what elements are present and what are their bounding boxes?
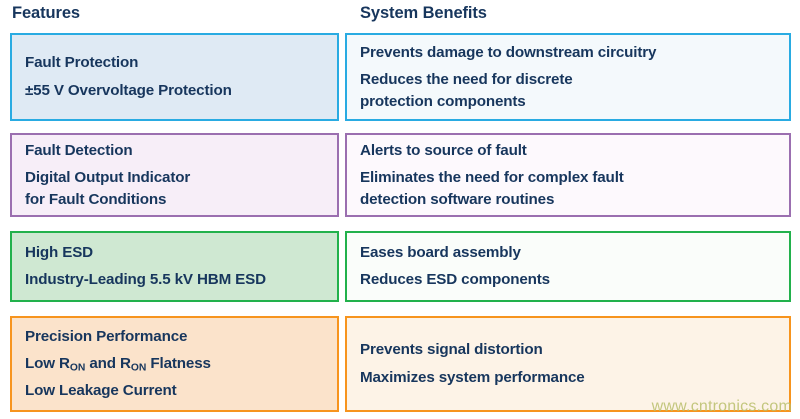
table-header-row: Features System Benefits [0, 0, 800, 32]
benefit-line: Prevents damage to downstream circuitry [360, 42, 777, 64]
feature-line: Low Leakage Current [25, 380, 325, 402]
feature-line-ron: Low RON and RON Flatness [25, 353, 325, 376]
feature-line: High ESD [25, 242, 325, 264]
column-header-system-benefits: System Benefits [360, 4, 487, 23]
column-header-features: Features [12, 4, 80, 23]
benefit-cell-precision-performance: Prevents signal distortion Maximizes sys… [345, 316, 791, 412]
feature-line: Fault Protection [25, 52, 325, 74]
benefit-cell-fault-detection: Alerts to source of fault Eliminates the… [345, 133, 791, 217]
table-row-fault-detection: Fault Detection Digital Output Indicator… [0, 133, 800, 217]
feature-benefit-table: Features System Benefits Fault Protectio… [0, 0, 800, 419]
benefit-line: Reduces the need for discrete protection… [360, 69, 777, 112]
table-row-fault-protection: Fault Protection ±55 V Overvoltage Prote… [0, 33, 800, 121]
benefit-line: Prevents signal distortion [360, 339, 777, 361]
feature-line: Precision Performance [25, 326, 325, 348]
feature-cell-fault-protection: Fault Protection ±55 V Overvoltage Prote… [10, 33, 339, 121]
benefit-line: Eases board assembly [360, 242, 777, 264]
table-row-precision-performance: Precision Performance Low RON and RON Fl… [0, 316, 800, 412]
benefit-line: Maximizes system performance [360, 367, 777, 389]
feature-line: ±55 V Overvoltage Protection [25, 80, 325, 102]
benefit-cell-high-esd: Eases board assembly Reduces ESD compone… [345, 231, 791, 302]
benefit-line: Reduces ESD components [360, 269, 777, 291]
benefit-line: Eliminates the need for complex fault de… [360, 167, 777, 210]
feature-cell-fault-detection: Fault Detection Digital Output Indicator… [10, 133, 339, 217]
feature-cell-precision-performance: Precision Performance Low RON and RON Fl… [10, 316, 339, 412]
benefit-line: Alerts to source of fault [360, 140, 777, 162]
feature-line: Industry-Leading 5.5 kV HBM ESD [25, 269, 325, 291]
benefit-cell-fault-protection: Prevents damage to downstream circuitry … [345, 33, 791, 121]
feature-line: Fault Detection [25, 140, 325, 162]
feature-cell-high-esd: High ESD Industry-Leading 5.5 kV HBM ESD [10, 231, 339, 302]
feature-line: Digital Output Indicator for Fault Condi… [25, 167, 325, 210]
table-row-high-esd: High ESD Industry-Leading 5.5 kV HBM ESD… [0, 231, 800, 302]
